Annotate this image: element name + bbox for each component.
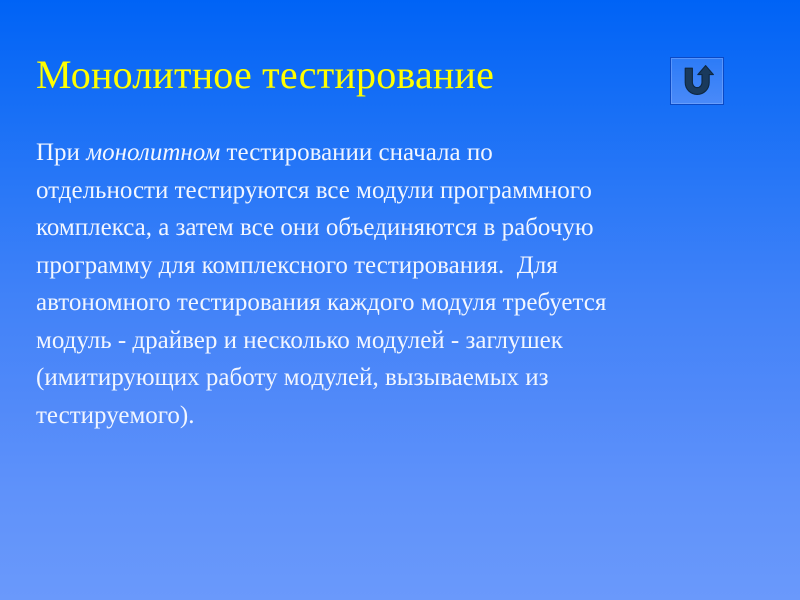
body-line: отдельности тестируются все модули прогр…: [36, 172, 726, 210]
slide-body-text: При монолитном тестировании сначала по о…: [36, 134, 726, 434]
body-line: программу для комплексного тестирования.…: [36, 247, 726, 285]
body-line: При монолитном тестировании сначала по: [36, 134, 726, 172]
u-turn-arrow-icon: [680, 65, 714, 97]
body-line-emphasis: монолитном: [86, 139, 220, 166]
body-line: (имитирующих работу модулей, вызываемых …: [36, 359, 726, 397]
body-line: модуль - драйвер и несколько модулей - з…: [36, 322, 726, 360]
page-title: Монолитное тестирование: [36, 52, 636, 98]
body-line: тестируемого).: [36, 397, 726, 435]
body-line: комплекса, а затем все они объединяются …: [36, 209, 726, 247]
presentation-slide: Монолитное тестирование При монолитном т…: [0, 0, 800, 600]
body-line-prefix: При: [36, 139, 86, 166]
body-line: автономного тестирования каждого модуля …: [36, 284, 726, 322]
body-line-suffix: тестировании сначала по: [220, 139, 492, 166]
return-nav-button[interactable]: [670, 57, 724, 105]
